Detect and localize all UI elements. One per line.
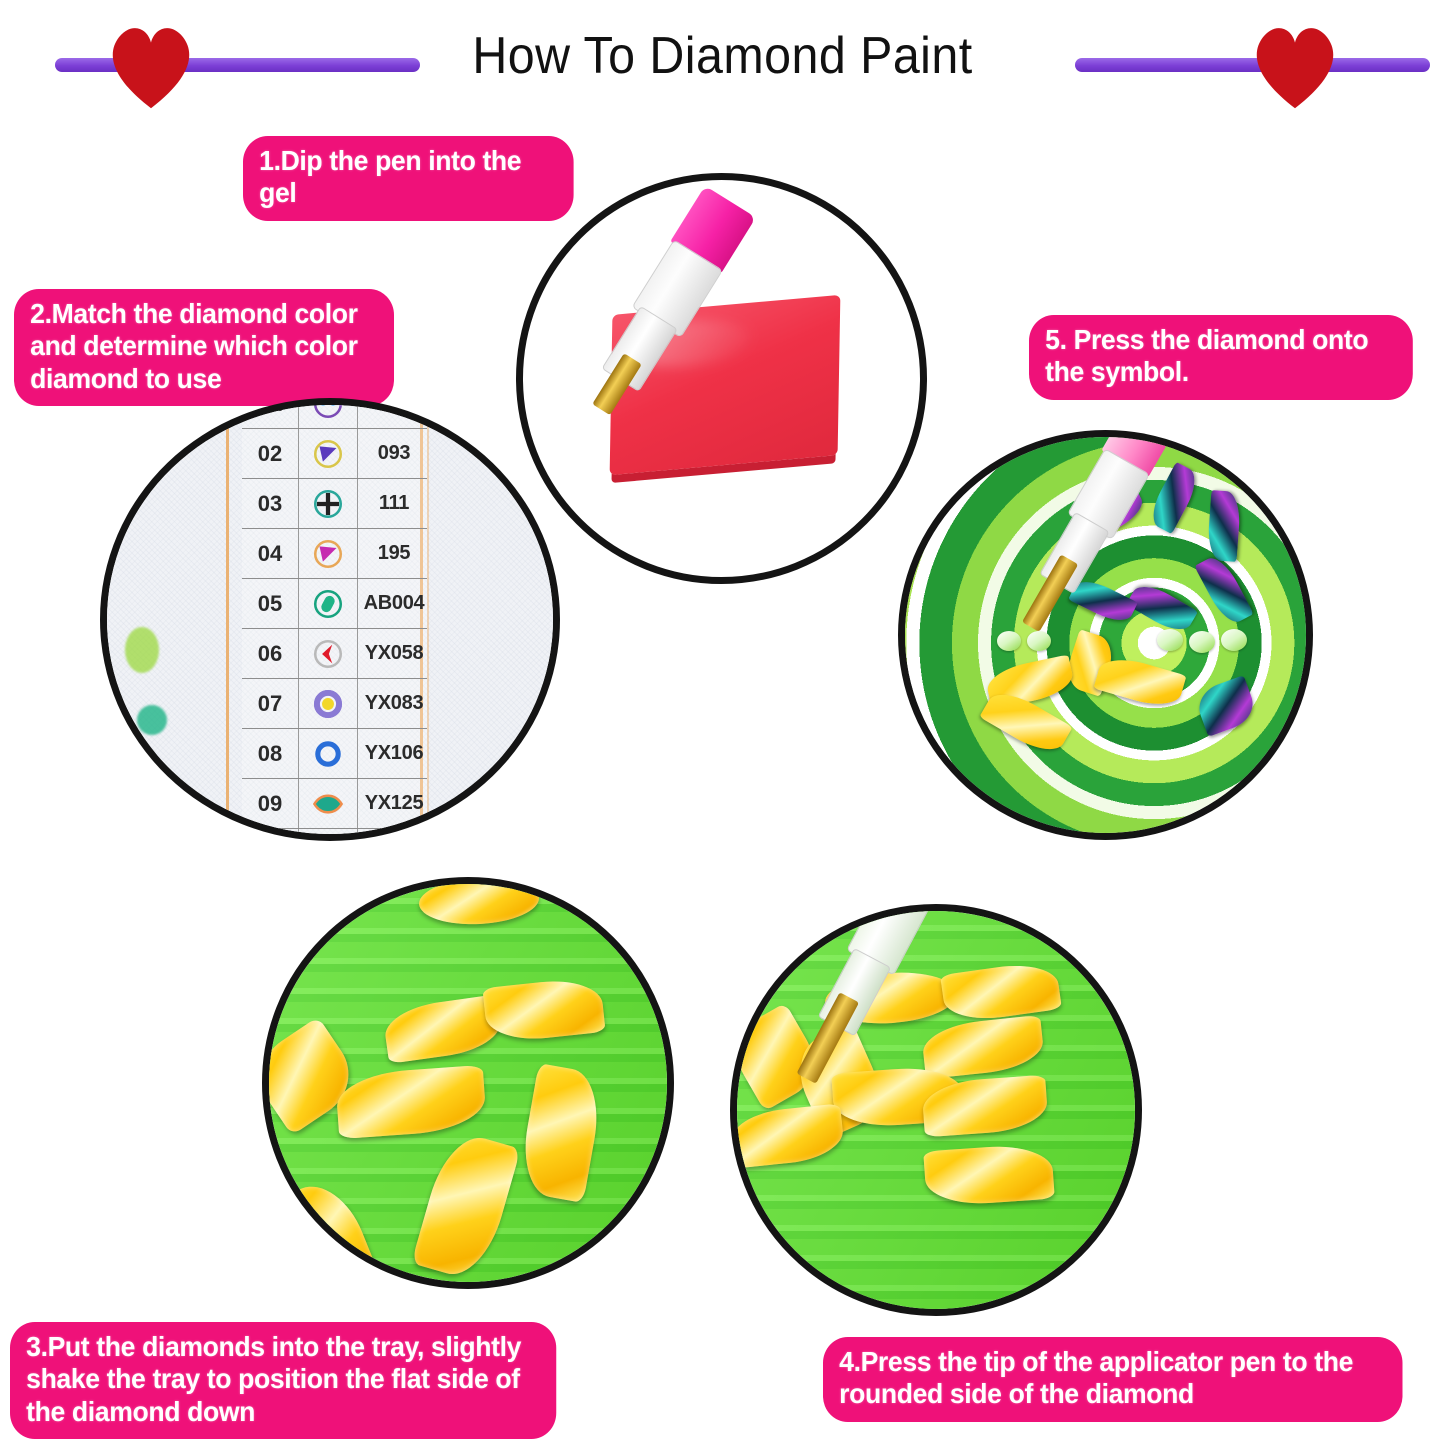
gem: [1193, 675, 1259, 737]
color-chart-row: 09YX125: [242, 778, 427, 829]
color-chart-row: 02093: [242, 428, 427, 479]
row-number: 07: [242, 679, 299, 728]
page-title: How To Diamond Paint: [51, 26, 1395, 86]
color-chart-row: 05AB004: [242, 578, 427, 629]
color-chart-row: 10: [242, 828, 427, 841]
color-code: AB004: [358, 579, 427, 628]
color-chart-row: 08YX106: [242, 728, 427, 779]
step-2-label: 2.Match the diamond color and determine …: [14, 289, 394, 406]
gem: [1157, 629, 1183, 651]
gem: [1221, 629, 1247, 651]
color-code: 028: [358, 398, 427, 428]
red-chevron-in-grey-circle-icon: [299, 629, 358, 678]
header-banner: How To Diamond Paint: [0, 0, 1445, 120]
row-number: 08: [242, 729, 299, 778]
row-number: 10: [242, 829, 299, 841]
row-number: 06: [242, 629, 299, 678]
teal-paint-blot: [137, 705, 167, 735]
color-code: 195: [358, 529, 427, 578]
green-bar-in-teal-circle-icon: [299, 579, 358, 628]
teal-leaf-in-orange-outline-icon: [299, 779, 358, 828]
purple-triangle-in-yellow-circle-icon: [299, 429, 358, 478]
row-number: 09: [242, 779, 299, 828]
orange-guide-line: [226, 405, 229, 834]
color-chart-row: 04195: [242, 528, 427, 579]
step-4-photo: [730, 904, 1142, 1316]
step-3-photo: [262, 877, 674, 1289]
color-code: 111: [358, 479, 427, 528]
row-number: 02: [242, 429, 299, 478]
magenta-triangle-in-orange-circle-icon: [299, 529, 358, 578]
step-1-photo: [516, 173, 927, 584]
gem: [1189, 631, 1215, 653]
color-code: YX058: [358, 629, 427, 678]
row-number: 03: [242, 479, 299, 528]
color-code: YX106: [358, 729, 427, 778]
step-5-label: 5. Press the diamond onto the symbol.: [1029, 315, 1413, 400]
color-code: 093: [358, 429, 427, 478]
color-code: YX125: [358, 779, 427, 828]
two-blue-dots-in-purple-circle-icon: [299, 398, 358, 428]
teal-shape-partial-icon: [299, 829, 358, 841]
gem: [1194, 552, 1253, 628]
row-number: 05: [242, 579, 299, 628]
black-plus-in-teal-circle-icon: [299, 479, 358, 528]
infographic-root: How To Diamond Paint 1.Dip the pen into …: [0, 0, 1445, 1445]
step-1-label: 1.Dip the pen into the gel: [243, 136, 574, 221]
step-4-label: 4.Press the tip of the applicator pen to…: [823, 1337, 1403, 1422]
step-3-label: 3.Put the diamonds into the tray, slight…: [10, 1322, 556, 1439]
yellow-dot-in-purple-ring-icon: [299, 679, 358, 728]
orange-guide-line: [427, 405, 429, 834]
color-chart-row: 07YX083: [242, 678, 427, 729]
green-paint-blot: [125, 627, 159, 673]
step-2-photo: 0102802093031110419505AB00406YX05807YX08…: [100, 398, 560, 841]
row-number: 04: [242, 529, 299, 578]
blue-open-ring-icon: [299, 729, 358, 778]
step-5-photo: [898, 430, 1313, 840]
color-symbol-table: 0102802093031110419505AB00406YX05807YX08…: [242, 398, 427, 841]
color-chart-row: 06YX058: [242, 628, 427, 679]
color-code: YX083: [358, 679, 427, 728]
color-chart-row: 03111: [242, 478, 427, 529]
